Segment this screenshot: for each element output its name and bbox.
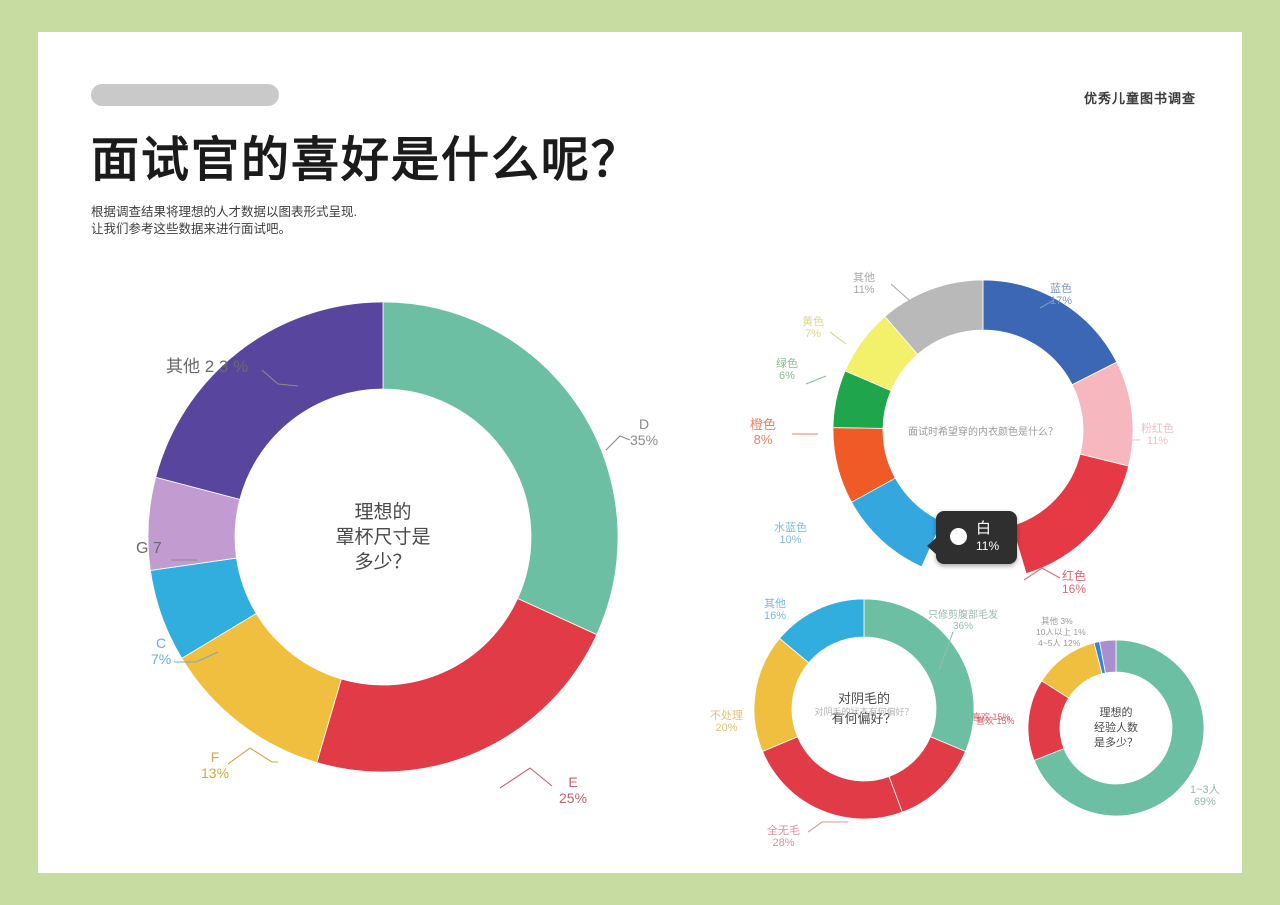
leader-cup-f	[228, 746, 280, 770]
tooltip-white-slice[interactable]: 白 11%	[936, 511, 1017, 564]
pie-slice-其他[interactable]	[156, 302, 383, 499]
leader-cup-other	[260, 368, 300, 392]
dotted-divider	[91, 190, 876, 193]
leader-ph-none	[808, 820, 852, 836]
label-cup-e: E 25%	[559, 775, 587, 806]
pie-slice-E[interactable]	[317, 598, 597, 772]
subtitle: 根据调查结果将理想的人才数据以图表形式呈现. 让我们参考这些数据来进行面试吧。	[91, 204, 357, 238]
label-cup-c: C 7%	[151, 636, 171, 667]
label-exp-four-five: 4~5人 12%	[1038, 639, 1080, 649]
pie-slice-红色[interactable]	[1012, 454, 1129, 574]
label-cup-other: 其他 2 3 %	[166, 357, 248, 376]
leader-ph-trim	[937, 632, 959, 674]
label-exp-ten-plus: 10人以上 1%	[1036, 628, 1086, 638]
tooltip-label: 白	[976, 520, 991, 537]
label-uw-red: 红色 16%	[1062, 570, 1086, 597]
brand-label: 优秀儿童图书调查	[1084, 88, 1196, 107]
leader-cup-d	[604, 432, 632, 454]
decorative-tag-bar	[91, 84, 279, 106]
leader-cup-e	[500, 766, 560, 792]
label-uw-other: 其他 11%	[853, 272, 875, 297]
label-uw-pink: 粉红色 11%	[1141, 423, 1174, 448]
leader-uw-other	[891, 282, 917, 304]
label-uw-orange: 橙色 8%	[750, 418, 776, 447]
label-ph-trim: 只修剪腹部毛发 36%	[928, 610, 998, 632]
leader-cup-c	[174, 648, 220, 668]
label-uw-lightblue: 水蓝色 10%	[774, 522, 807, 547]
leader-uw-green	[806, 374, 834, 390]
slide-canvas: 优秀儿童图书调查 面试官的喜好是什么呢？ 根据调查结果将理想的人才数据以图表形式…	[38, 32, 1242, 873]
tooltip-color-dot	[950, 528, 967, 545]
leader-uw-yellow	[830, 330, 856, 348]
leader-uw-pink	[1116, 436, 1142, 444]
tooltip-value: 11%	[976, 539, 999, 554]
label-uw-yellow: 黄色 7%	[802, 316, 824, 341]
label-ph-other: 其他 16%	[764, 598, 786, 623]
label-uw-green: 绿色 6%	[776, 358, 798, 383]
label-cup-f: F 13%	[201, 750, 229, 781]
subtitle-line-1: 根据调查结果将理想的人才数据以图表形式呈现.	[91, 204, 357, 221]
label-exp-one-three: 1~3人 69%	[1190, 784, 1220, 809]
label-ph-none: 全无毛 28%	[767, 825, 800, 850]
pie-slice-D[interactable]	[383, 302, 618, 635]
subtitle-line-2: 让我们参考这些数据来进行面试吧。	[91, 221, 357, 238]
label-exp-like: 喜欢 15%	[976, 716, 1015, 726]
pie-slice-全无毛[interactable]	[763, 737, 903, 819]
leader-uw-orange	[792, 428, 822, 438]
page-title: 面试官的喜好是什么呢？	[91, 120, 641, 190]
label-exp-other: 其他 3%	[1041, 617, 1073, 627]
label-ph-natural: 不处理 20%	[710, 710, 743, 735]
label-cup-d: D 35%	[630, 417, 658, 448]
label-cup-g: G 7	[136, 540, 162, 558]
experience-donut-svg	[1028, 640, 1204, 816]
leader-uw-red	[1024, 566, 1064, 584]
leader-uw-blue	[1038, 298, 1058, 312]
chart-experience-count: 理想的 经验人数 是多少？	[1028, 640, 1204, 816]
leader-cup-g	[171, 552, 199, 562]
tooltip-text: 白 11%	[976, 520, 999, 554]
pie-slice-喜欢[interactable]	[889, 737, 965, 812]
